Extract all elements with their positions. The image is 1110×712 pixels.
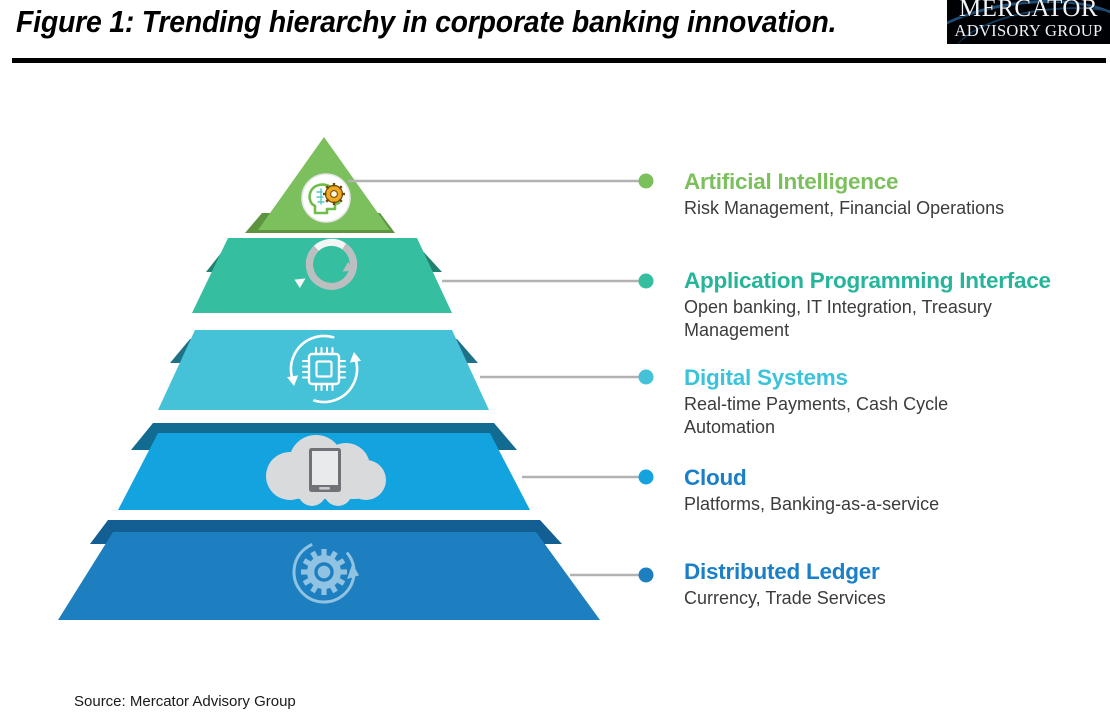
legend-title-api: Application Programming Interface (684, 267, 1104, 294)
pyramid-level-cloud (118, 423, 530, 510)
legend-description-digital-systems: Real-time Payments, Cash Cycle Automatio… (684, 393, 1036, 439)
brain-gear-icon (302, 174, 350, 222)
logo-line-secondary: ADVISORY GROUP (947, 21, 1110, 41)
legend-description-distributed-ledger: Currency, Trade Services (684, 587, 1036, 610)
pyramid-level-distributed-ledger (58, 520, 600, 620)
legend-item-distributed-ledger[interactable]: Distributed Ledger Currency, Trade Servi… (684, 558, 1104, 610)
legend-title-cloud: Cloud (684, 464, 1104, 491)
legend-title-artificial-intelligence: Artificial Intelligence (684, 168, 1104, 195)
title-divider (12, 58, 1106, 63)
pyramid-diagram (0, 120, 660, 640)
legend-item-cloud[interactable]: Cloud Platforms, Banking-as-a-service (684, 464, 1104, 516)
legend-title-distributed-ledger: Distributed Ledger (684, 558, 1104, 585)
pyramid-level-3-face (158, 330, 489, 410)
pyramid-level-api (192, 234, 452, 313)
legend-item-digital-systems[interactable]: Digital Systems Real-time Payments, Cash… (684, 364, 1104, 439)
legend-description-artificial-intelligence: Risk Management, Financial Operations (684, 197, 1036, 220)
legend-item-artificial-intelligence[interactable]: Artificial Intelligence Risk Management,… (684, 168, 1104, 220)
legend-title-digital-systems: Digital Systems (684, 364, 1104, 391)
figure-header: Figure 1: Trending hierarchy in corporat… (0, 0, 1110, 62)
mercator-logo: MERCATOR ADVISORY GROUP (947, 0, 1110, 44)
page-title: Figure 1: Trending hierarchy in corporat… (16, 2, 881, 42)
pyramid-level-digital-systems (158, 327, 489, 412)
source-note: Source: Mercator Advisory Group (74, 693, 296, 710)
logo-line-primary: MERCATOR (947, 0, 1110, 23)
legend-item-api[interactable]: Application Programming Interface Open b… (684, 267, 1104, 342)
pyramid-level-artificial-intelligence (245, 137, 395, 233)
gear-accent-icon (323, 183, 345, 205)
legend-description-cloud: Platforms, Banking-as-a-service (684, 493, 1036, 516)
legend-description-api: Open banking, IT Integration, Treasury M… (684, 296, 1036, 342)
pyramid-level-2-face (192, 238, 452, 313)
